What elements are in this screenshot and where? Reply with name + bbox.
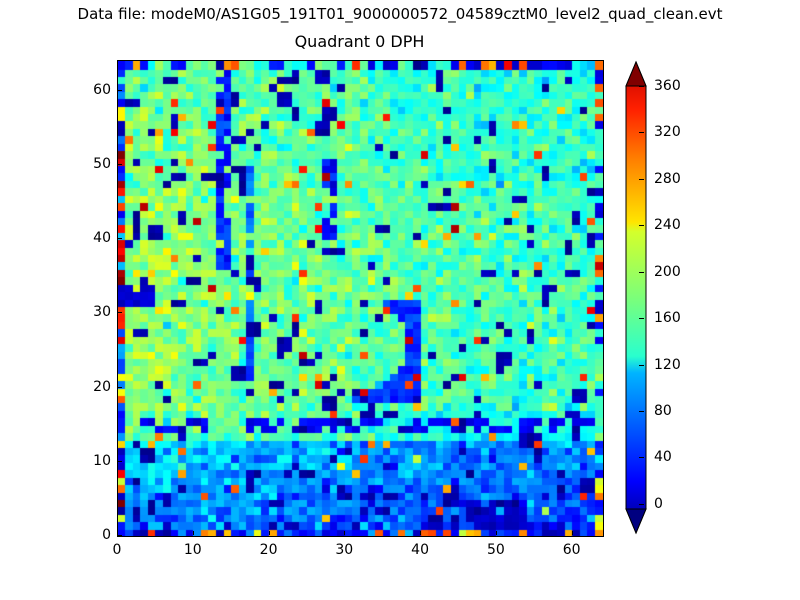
- colorbar-tick-label: 320: [654, 124, 681, 140]
- y-tick-label: 20: [85, 379, 111, 395]
- y-tick-label: 30: [85, 304, 111, 320]
- y-tick-label: 10: [85, 453, 111, 469]
- data-file-label: Data file: modeM0/AS1G05_191T01_90000005…: [0, 5, 800, 23]
- y-tick-label: 50: [85, 156, 111, 172]
- heatmap-axes[interactable]: [117, 60, 604, 537]
- heatmap-image[interactable]: [118, 61, 603, 536]
- colorbar-tick-mark: [639, 457, 644, 458]
- x-tick-label: 0: [113, 542, 122, 558]
- y-tick-label: 40: [85, 230, 111, 246]
- x-tick-label: 10: [184, 542, 202, 558]
- x-tick-mark: [269, 531, 270, 535]
- x-tick-label: 20: [260, 542, 278, 558]
- colorbar-tick-mark: [639, 504, 644, 505]
- colorbar-tick-label: 0: [654, 496, 663, 512]
- y-tick-label: 60: [85, 82, 111, 98]
- colorbar-tick-mark: [639, 179, 644, 180]
- colorbar-tick-mark: [639, 132, 644, 133]
- x-tick-label: 40: [411, 542, 429, 558]
- y-tick-mark: [118, 461, 122, 462]
- colorbar-tick-label: 360: [654, 78, 681, 94]
- y-tick-mark: [118, 164, 122, 165]
- colorbar-tick-label: 40: [654, 449, 672, 465]
- x-tick-mark: [496, 531, 497, 535]
- y-tick-mark: [118, 90, 122, 91]
- x-tick-mark: [420, 531, 421, 535]
- colorbar-tick-mark: [639, 318, 644, 319]
- colorbar[interactable]: [625, 60, 647, 535]
- colorbar-tick-mark: [639, 225, 644, 226]
- colorbar-gradient: [625, 60, 647, 535]
- x-tick-mark: [193, 531, 194, 535]
- colorbar-tick-label: 80: [654, 403, 672, 419]
- colorbar-tick-label: 240: [654, 217, 681, 233]
- x-tick-mark: [572, 531, 573, 535]
- x-tick-label: 60: [563, 542, 581, 558]
- x-tick-label: 30: [335, 542, 353, 558]
- figure-canvas: Data file: modeM0/AS1G05_191T01_90000005…: [0, 0, 800, 600]
- colorbar-tick-mark: [639, 272, 644, 273]
- y-tick-mark: [118, 312, 122, 313]
- y-tick-mark: [118, 238, 122, 239]
- colorbar-tick-mark: [639, 86, 644, 87]
- y-tick-mark: [118, 535, 122, 536]
- colorbar-tick-mark: [639, 365, 644, 366]
- axes-title: Quadrant 0 DPH: [117, 32, 602, 51]
- y-tick-label: 0: [85, 527, 111, 543]
- colorbar-tick-mark: [639, 411, 644, 412]
- colorbar-tick-label: 280: [654, 171, 681, 187]
- x-tick-label: 50: [487, 542, 505, 558]
- colorbar-tick-label: 160: [654, 310, 681, 326]
- colorbar-tick-label: 200: [654, 264, 681, 280]
- colorbar-tick-label: 120: [654, 357, 681, 373]
- y-tick-mark: [118, 387, 122, 388]
- x-tick-mark: [344, 531, 345, 535]
